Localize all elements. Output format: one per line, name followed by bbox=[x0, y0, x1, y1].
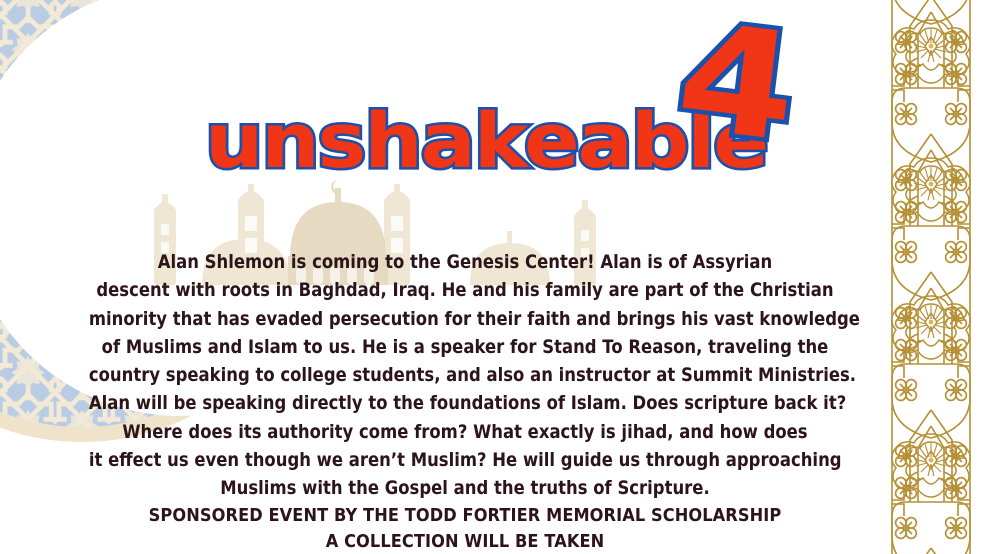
body-line: country speaking to college students, an… bbox=[89, 362, 841, 390]
body-line: Muslims with the Gospel and the truths o… bbox=[89, 475, 841, 503]
body-line: Alan will be speaking directly to the fo… bbox=[89, 390, 841, 418]
body-line: Alan Shlemon is coming to the Genesis Ce… bbox=[89, 249, 841, 277]
arabesque-border-icon bbox=[884, 0, 978, 554]
body-line: of Muslims and Islam to us. He is a spea… bbox=[89, 334, 841, 362]
gold-arabesque-border-decoration bbox=[884, 0, 978, 554]
body-line: Where does its authority come from? What… bbox=[89, 419, 841, 447]
sponsor-notice: SPONSORED EVENT BY THE TODD FORTIER MEMO… bbox=[83, 503, 848, 554]
event-description: Alan Shlemon is coming to the Genesis Ce… bbox=[89, 249, 841, 504]
event-flyer: unshakeable 4 Alan Shlemon is coming to … bbox=[0, 0, 984, 554]
finial-crescent-icon bbox=[331, 180, 342, 194]
body-line: descent with roots in Baghdad, Iraq. He … bbox=[89, 277, 841, 305]
body-line: minority that has evaded persecution for… bbox=[89, 306, 841, 334]
collection-line: A COLLECTION WILL BE TAKEN bbox=[83, 529, 848, 554]
page-title: unshakeable bbox=[205, 103, 767, 179]
body-line: it effect us even though we aren’t Musli… bbox=[89, 447, 841, 475]
edition-number-badge: 4 bbox=[670, 2, 805, 163]
title-block: unshakeable 4 bbox=[0, 0, 860, 195]
sponsor-line: SPONSORED EVENT BY THE TODD FORTIER MEMO… bbox=[83, 503, 848, 529]
